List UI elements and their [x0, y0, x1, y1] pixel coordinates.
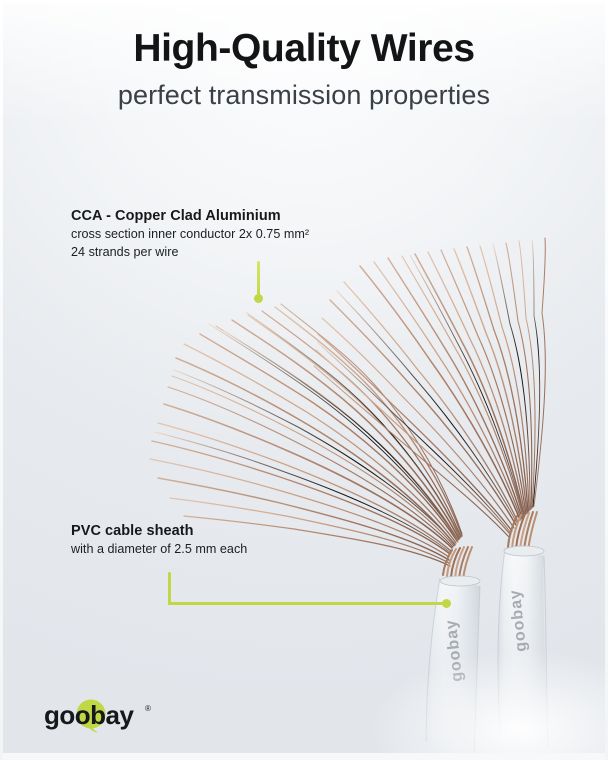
callout-pvc-line1: with a diameter of 2.5 mm each: [71, 541, 247, 559]
pointer-line-pvc: [168, 572, 458, 612]
goobay-logo: goobay ®: [44, 699, 164, 733]
pointer-horizontal-segment: [168, 602, 448, 605]
edge-highlight-left: [0, 0, 3, 760]
pointer-dot: [254, 294, 263, 303]
callout-cca: CCA - Copper Clad Aluminium cross sectio…: [71, 206, 309, 261]
callout-cca-line1: cross section inner conductor 2x 0.75 mm…: [71, 226, 309, 244]
header: High-Quality Wires perfect transmission …: [0, 0, 608, 112]
logo-registered-mark: ®: [145, 704, 151, 713]
page-title: High-Quality Wires: [0, 0, 608, 72]
page-subtitle: perfect transmission properties: [0, 72, 608, 112]
callout-cca-line2: 24 strands per wire: [71, 244, 309, 262]
edge-highlight-top: [0, 0, 608, 3]
pointer-line-cca: [253, 261, 264, 307]
callout-pvc: PVC cable sheath with a diameter of 2.5 …: [71, 521, 247, 559]
callout-pvc-heading: PVC cable sheath: [71, 521, 247, 541]
logo-wordmark: goobay: [44, 700, 134, 730]
pointer-vertical-segment: [168, 572, 171, 605]
product-photo-wires: goobay goobay: [0, 0, 608, 760]
edge-highlight-bottom: [0, 753, 608, 760]
infographic-canvas: goobay goobay High-Quality Wires perfect…: [0, 0, 608, 760]
callout-cca-heading: CCA - Copper Clad Aluminium: [71, 206, 309, 226]
pointer-dot: [442, 599, 451, 608]
